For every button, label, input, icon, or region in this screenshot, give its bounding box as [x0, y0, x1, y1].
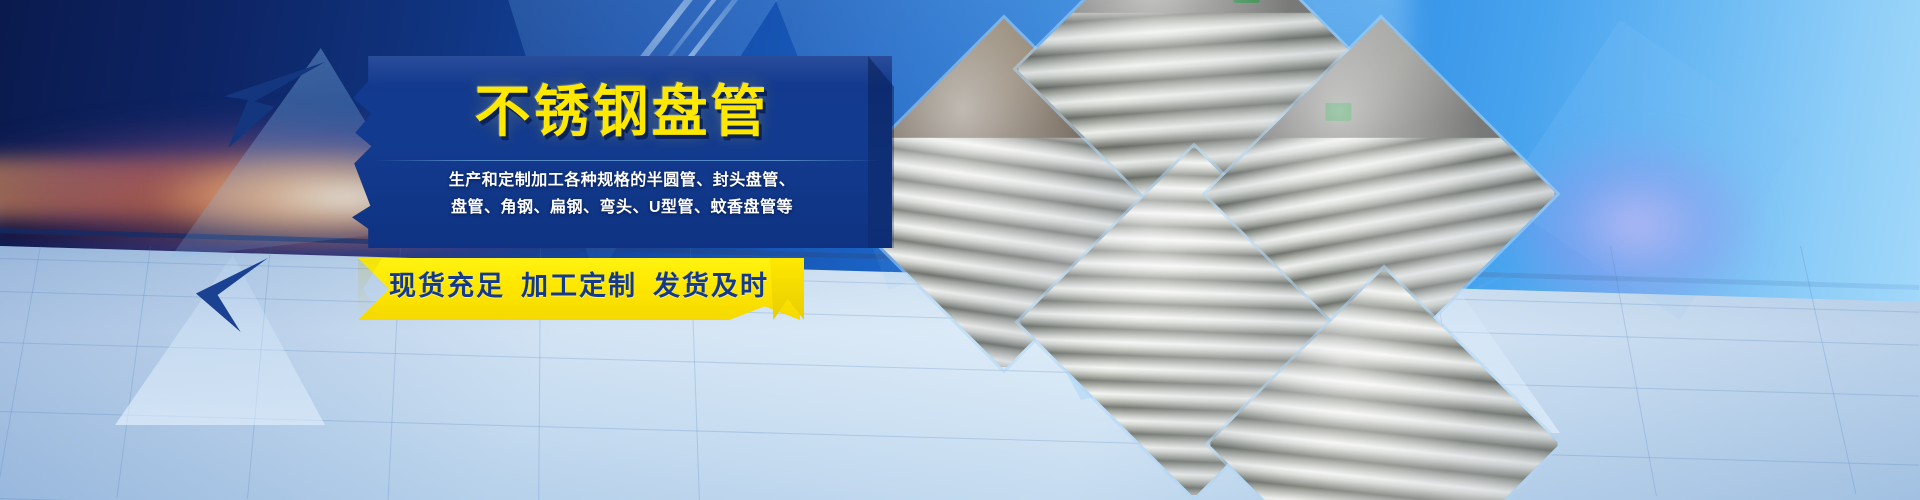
tagline-text: 现货充足加工定制发货及时	[358, 273, 800, 300]
subtitle-text: 生产和定制加工各种规格的半圆管、封头盘管、 盘管、角钢、扁钢、弯头、U型管、蚊香…	[352, 168, 892, 222]
subtitle-line-1: 生产和定制加工各种规格的半圆管、封头盘管、	[352, 168, 892, 195]
subtitle-line-2: 盘管、角钢、扁钢、弯头、U型管、蚊香盘管等	[352, 195, 892, 222]
page-title: 不锈钢盘管	[352, 84, 892, 140]
product-photo-collage	[820, 0, 1920, 500]
tagline-item: 发货及时	[653, 271, 769, 301]
promo-banner: 不锈钢盘管 生产和定制加工各种规格的半圆管、封头盘管、 盘管、角钢、扁钢、弯头、…	[0, 0, 1920, 500]
tagline-item: 现货充足	[389, 271, 505, 301]
tagline-item: 加工定制	[521, 271, 637, 301]
headline-ribbon-divider	[372, 160, 882, 161]
